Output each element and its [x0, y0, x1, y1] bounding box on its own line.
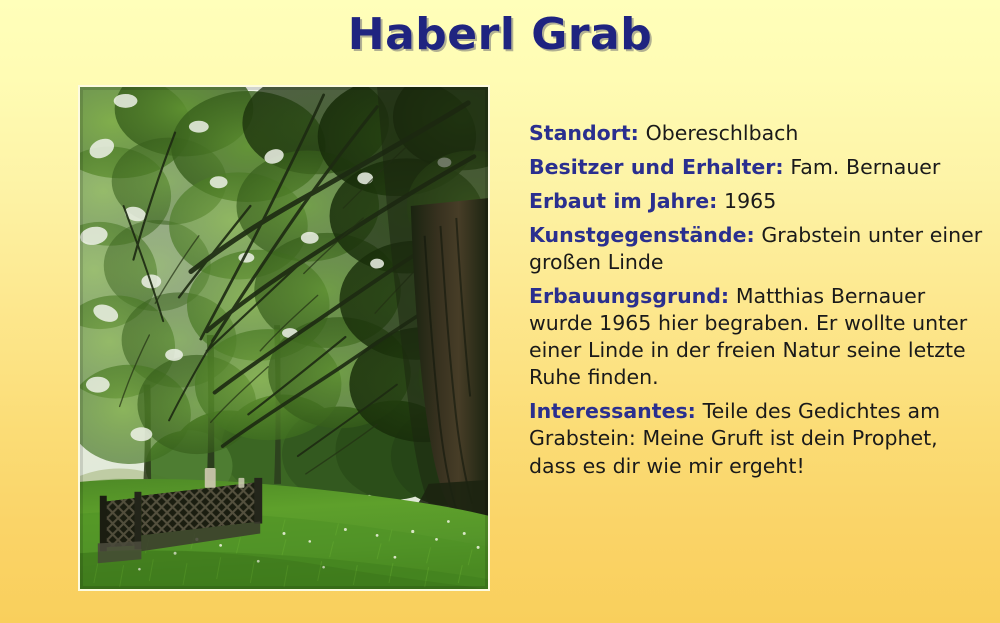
entry-besitzer-und-erhalter: Besitzer und Erhalter: Fam. Bernauer: [529, 154, 987, 181]
entry-value: 1965: [717, 189, 776, 213]
entry-label: Interessantes:: [529, 399, 696, 423]
info-list: Standort: Obereschlbach Besitzer und Erh…: [529, 120, 987, 480]
entry-erbauungsgrund: Erbauungsgrund: Matthias Bernauer wurde …: [529, 283, 987, 391]
entry-label: Erbaut im Jahre:: [529, 189, 717, 213]
entry-value: Fam. Bernauer: [784, 155, 941, 179]
grave-photo: [80, 87, 488, 589]
photo-frame: [78, 85, 490, 591]
entry-label: Besitzer und Erhalter:: [529, 155, 784, 179]
entry-label: Standort:: [529, 121, 639, 145]
entry-label: Erbauungsgrund:: [529, 284, 729, 308]
slide-canvas: Haberl Grab: [0, 0, 1000, 623]
entry-value: Obereschlbach: [639, 121, 799, 145]
entry-standort: Standort: Obereschlbach: [529, 120, 987, 147]
page-title: Haberl Grab: [0, 10, 1000, 61]
entry-label: Kunstgegenstände:: [529, 223, 755, 247]
entry-erbaut-im-jahre: Erbaut im Jahre: 1965: [529, 188, 987, 215]
entry-kunstgegenstaende: Kunstgegenstände: Grabstein unter einer …: [529, 222, 987, 276]
entry-interessantes: Interessantes: Teile des Gedichtes am Gr…: [529, 398, 987, 479]
